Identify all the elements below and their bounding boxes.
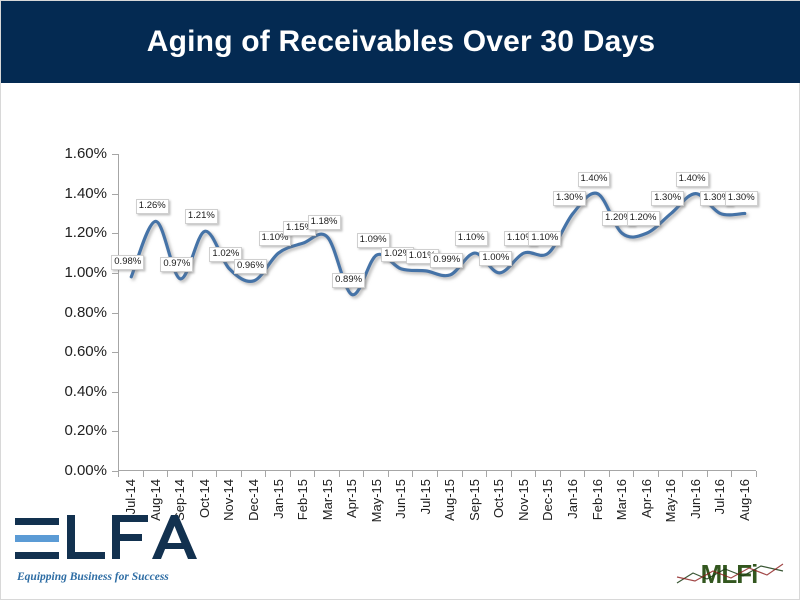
x-axis-tick-mark — [486, 471, 487, 477]
data-point-label: 0.98% — [111, 255, 144, 270]
x-axis-tick-mark — [216, 471, 217, 477]
mlfi-logo: MLFi — [673, 557, 787, 591]
data-point-label: 1.09% — [357, 233, 390, 248]
data-point-label: 1.21% — [185, 209, 218, 224]
x-axis-tick-label: Jul-16 — [712, 479, 727, 514]
data-point-label: 1.00% — [479, 251, 512, 266]
data-point-label: 0.97% — [160, 257, 193, 272]
x-axis-tick-mark — [560, 471, 561, 477]
data-point-label: 0.99% — [430, 253, 463, 268]
svg-text:MLFi: MLFi — [701, 559, 758, 589]
x-axis-tick-label: Apr-15 — [344, 479, 359, 518]
page-title: Aging of Receivables Over 30 Days — [147, 25, 656, 59]
title-banner: Aging of Receivables Over 30 Days — [1, 1, 800, 83]
x-axis-tick-mark — [584, 471, 585, 477]
y-axis-tick-label: 1.20% — [41, 224, 107, 241]
y-axis-tick-label: 1.60% — [41, 145, 107, 162]
x-axis-tick-mark — [192, 471, 193, 477]
x-axis-tick-label: Sep-15 — [467, 479, 482, 521]
x-axis-tick-label: Jan-15 — [271, 479, 286, 519]
x-axis-tick-label: Dec-15 — [540, 479, 555, 521]
data-point-label: 1.30% — [725, 191, 758, 206]
y-axis-tick-label: 1.00% — [41, 264, 107, 281]
x-axis-tick-label: Mar-15 — [320, 479, 335, 520]
y-axis-tick-label: 0.20% — [41, 422, 107, 439]
x-axis-tick-label: Apr-16 — [639, 479, 654, 518]
x-axis-tick-mark — [241, 471, 242, 477]
x-axis-tick-label: Jun-15 — [393, 479, 408, 519]
data-point-label: 1.30% — [651, 191, 684, 206]
data-point-label: 1.30% — [553, 191, 586, 206]
data-point-label: 1.10% — [455, 231, 488, 246]
x-axis-tick-label: May-16 — [663, 479, 678, 522]
data-point-label: 1.40% — [578, 172, 611, 187]
mlfi-logo-icon: MLFi — [673, 557, 787, 591]
x-axis-tick-mark — [511, 471, 512, 477]
x-axis-tick-mark — [363, 471, 364, 477]
x-axis-tick-mark — [633, 471, 634, 477]
x-axis-tick-label: Oct-15 — [491, 479, 506, 518]
x-axis-tick-mark — [388, 471, 389, 477]
x-axis-tick-mark — [462, 471, 463, 477]
y-axis-tick-label: 0.80% — [41, 304, 107, 321]
x-axis-tick-label: Jul-15 — [418, 479, 433, 514]
x-axis-tick-mark — [314, 471, 315, 477]
x-axis-tick-mark — [437, 471, 438, 477]
x-axis-tick-mark — [756, 471, 757, 477]
x-axis-tick-label: Dec-14 — [246, 479, 261, 521]
data-point-label: 1.10% — [528, 231, 561, 246]
x-axis-tick-mark — [707, 471, 708, 477]
data-point-label: 0.89% — [332, 273, 365, 288]
data-point-label: 1.20% — [627, 211, 660, 226]
x-axis-tick-label: Jan-16 — [565, 479, 580, 519]
x-axis-tick-mark — [118, 471, 119, 477]
x-axis-tick-label: Aug-16 — [737, 479, 752, 521]
x-axis-tick-mark — [658, 471, 659, 477]
data-point-label: 1.40% — [676, 172, 709, 187]
chart-container: 1.60%1.40%1.20%1.00%0.80%0.60%0.40%0.20%… — [1, 85, 800, 515]
x-axis-tick-mark — [143, 471, 144, 477]
x-axis-tick-label: Jun-16 — [688, 479, 703, 519]
elfa-tagline: Equipping Business for Success — [17, 571, 169, 583]
y-axis-tick-label: 1.40% — [41, 185, 107, 202]
data-point-label: 0.96% — [234, 259, 267, 274]
y-axis-tick-label: 0.00% — [41, 462, 107, 479]
x-axis-tick-mark — [339, 471, 340, 477]
x-axis-tick-label: Aug-15 — [442, 479, 457, 521]
x-axis-tick-label: Jul-14 — [123, 479, 138, 514]
y-axis-tick-label: 0.40% — [41, 383, 107, 400]
elfa-wordmark-icon — [15, 513, 197, 569]
x-axis-tick-mark — [265, 471, 266, 477]
data-point-label: 1.26% — [136, 199, 169, 214]
x-axis-tick-label: Nov-15 — [516, 479, 531, 521]
x-axis-tick-label: May-15 — [369, 479, 384, 522]
x-axis-tick-label: Mar-16 — [614, 479, 629, 520]
elfa-logo: Equipping Business for Success — [15, 513, 205, 591]
x-axis-tick-mark — [412, 471, 413, 477]
data-point-label: 1.18% — [308, 215, 341, 230]
x-axis-tick-label: Nov-14 — [221, 479, 236, 521]
y-axis-tick-label: 0.60% — [41, 343, 107, 360]
slide-canvas: Aging of Receivables Over 30 Days 1.60%1… — [0, 0, 800, 600]
x-axis-tick-mark — [731, 471, 732, 477]
x-axis-tick-mark — [167, 471, 168, 477]
x-axis-tick-mark — [290, 471, 291, 477]
x-axis-tick-mark — [682, 471, 683, 477]
x-axis-tick-label: Feb-16 — [590, 479, 605, 520]
x-axis-tick-mark — [609, 471, 610, 477]
x-axis-tick-label: Feb-15 — [295, 479, 310, 520]
x-axis-tick-mark — [535, 471, 536, 477]
